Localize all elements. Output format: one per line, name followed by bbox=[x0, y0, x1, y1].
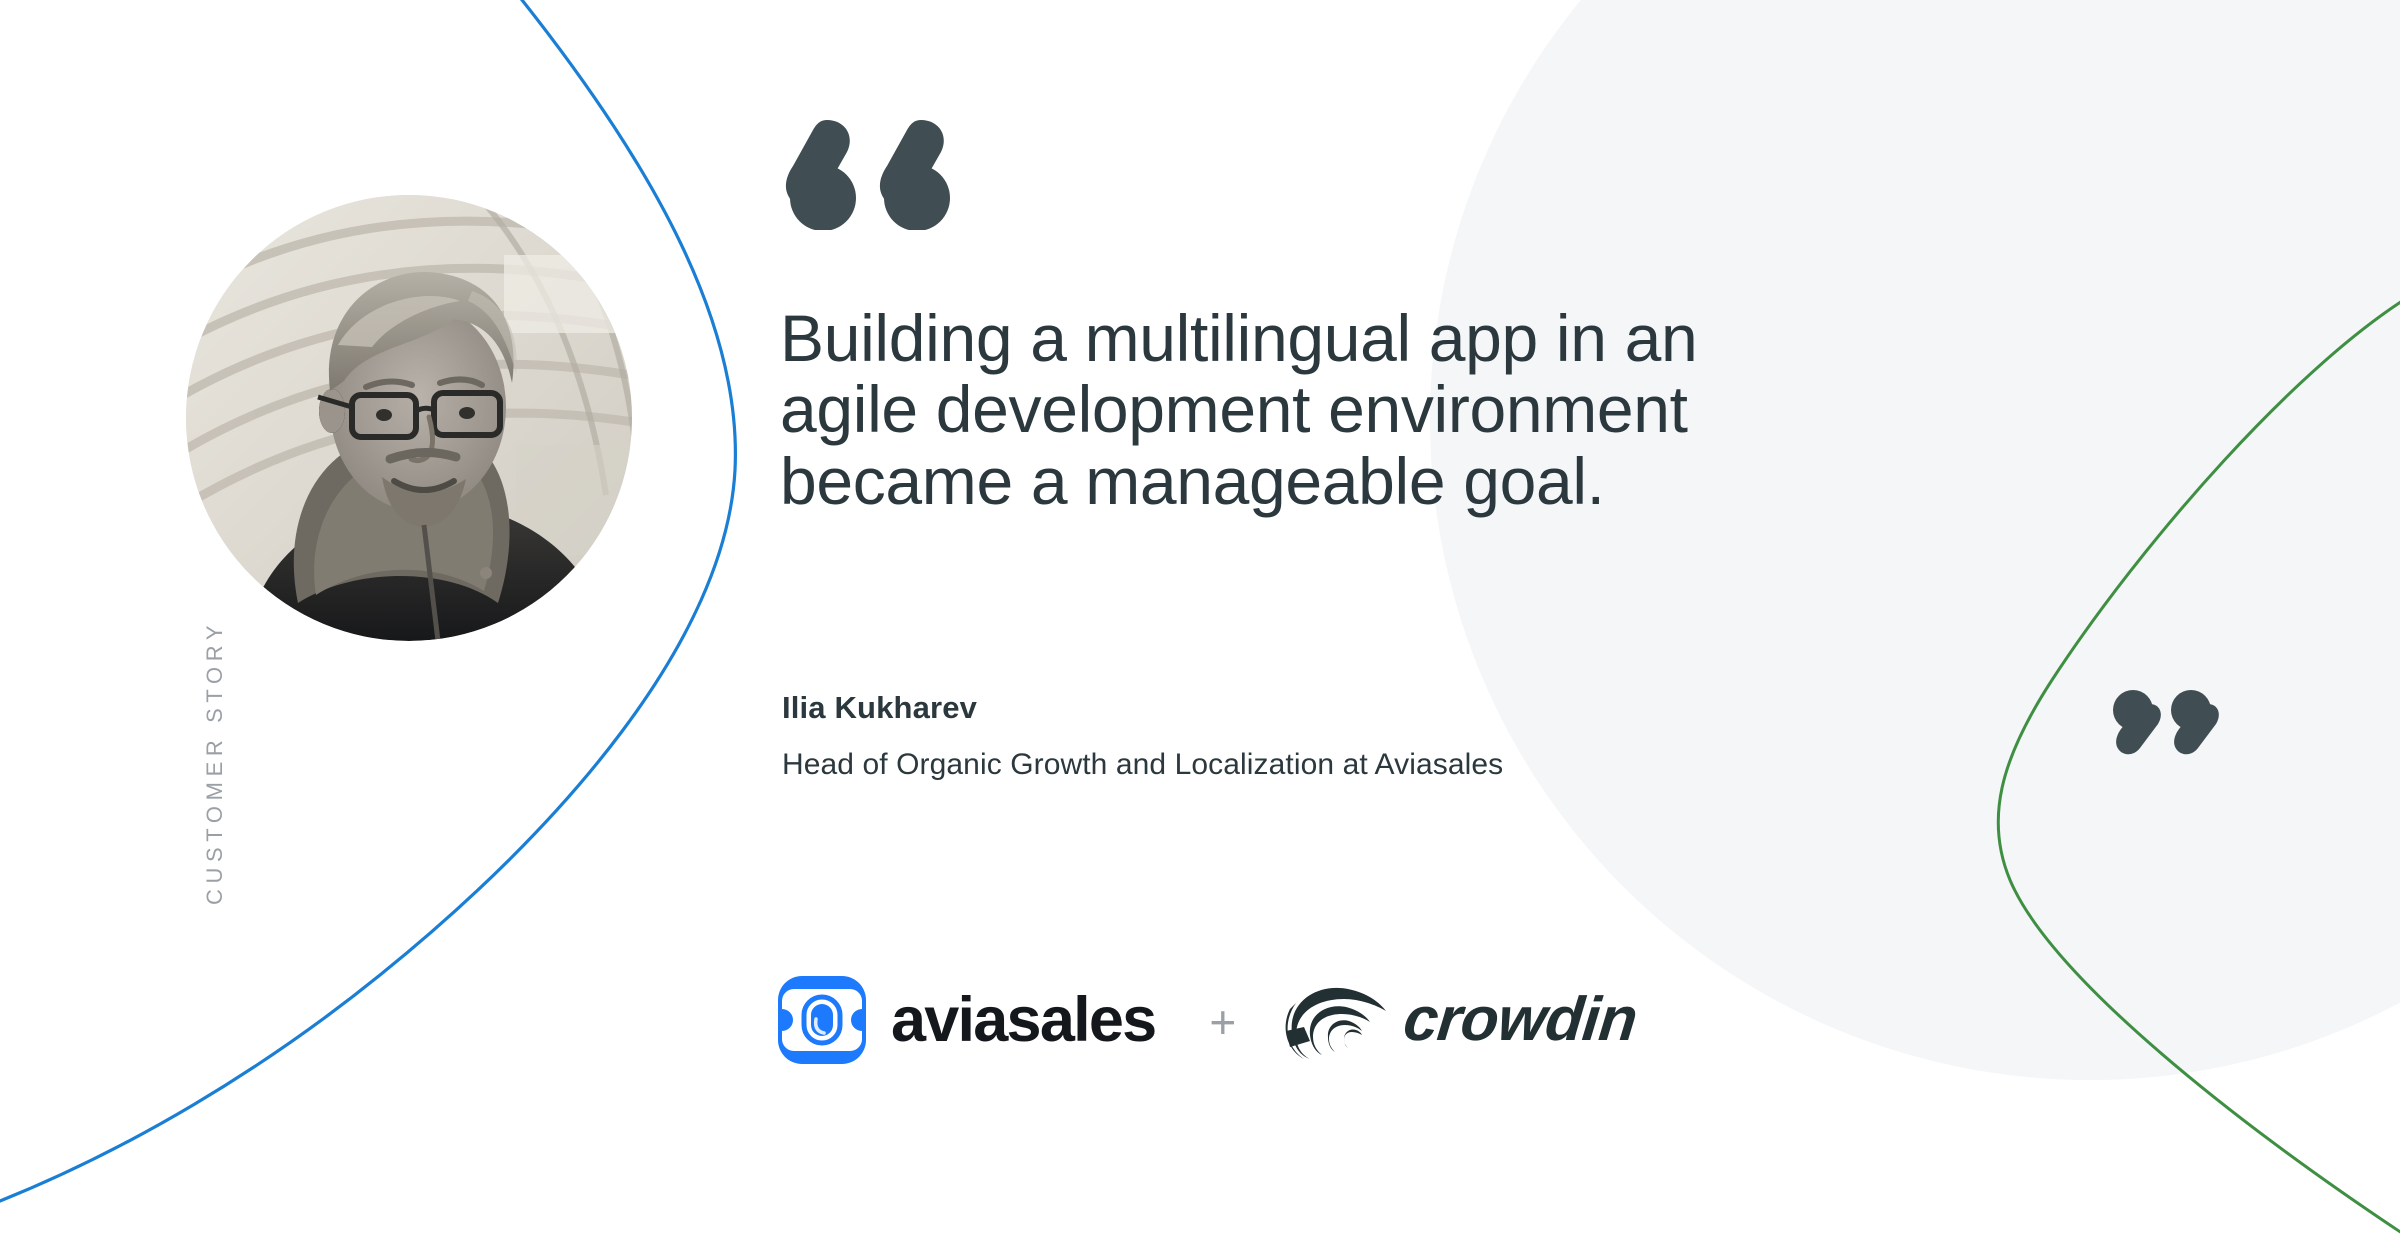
crowdin-logo: crowdin bbox=[1282, 977, 1636, 1063]
avatar-photo bbox=[186, 195, 632, 641]
aviasales-window-icon bbox=[775, 973, 869, 1067]
logo-lockup: aviasales + crowdin bbox=[775, 960, 1637, 1080]
quote-line-2: agile development environment bbox=[780, 374, 2240, 445]
quote-line-3: became a manageable goal. bbox=[780, 446, 2240, 517]
attribution-block: Ilia Kukharev Head of Organic Growth and… bbox=[782, 690, 1982, 782]
quote-close-icon bbox=[2112, 690, 2222, 756]
customer-story-card: CUSTOMER STORY bbox=[0, 0, 2400, 1260]
avatar bbox=[186, 195, 632, 641]
plus-separator: + bbox=[1209, 999, 1236, 1045]
person-name: Ilia Kukharev bbox=[782, 690, 1982, 726]
quote-line-1: Building a multilingual app in an bbox=[780, 303, 2240, 374]
aviasales-logo: aviasales bbox=[775, 973, 1155, 1067]
quote-text: Building a multilingual app in an agile … bbox=[780, 303, 2240, 517]
aviasales-wordmark: aviasales bbox=[891, 989, 1155, 1052]
person-role: Head of Organic Growth and Localization … bbox=[782, 748, 1982, 782]
quote-open-icon bbox=[783, 120, 973, 230]
gray-circle-blob bbox=[1430, 0, 2400, 1080]
crowdin-swoosh-icon bbox=[1282, 977, 1394, 1063]
crowdin-wordmark: crowdin bbox=[1401, 989, 1640, 1051]
